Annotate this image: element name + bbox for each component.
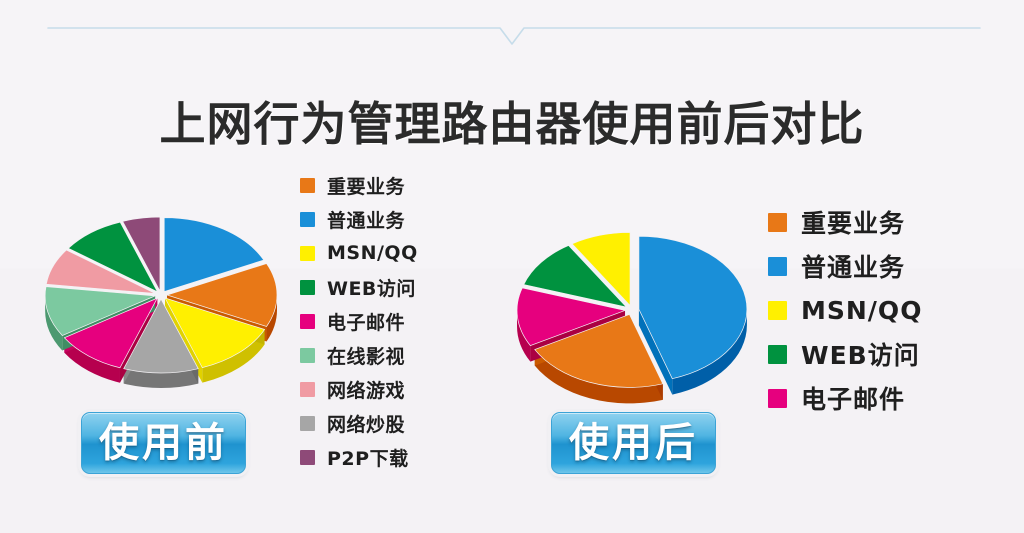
legend-color-swatch (300, 348, 315, 363)
legend-after-item: 重要业务 (768, 200, 922, 244)
legend-color-swatch (300, 450, 315, 465)
slide-canvas: 上网行为管理路由器使用前后对比 重要业务普通业务MSN/QQWEB访问电子邮件在… (0, 0, 1024, 533)
legend-before-item: 在线影视 (300, 338, 418, 372)
legend-color-swatch (768, 389, 787, 408)
top-divider (0, 0, 1024, 60)
legend-color-swatch (300, 314, 315, 329)
legend-before-item: 电子邮件 (300, 304, 418, 338)
legend-before: 重要业务普通业务MSN/QQWEB访问电子邮件在线影视网络游戏网络炒股P2P下载 (300, 168, 418, 474)
legend-item-label: 在线影视 (327, 342, 405, 369)
legend-color-swatch (300, 382, 315, 397)
legend-before-item: P2P下载 (300, 440, 418, 474)
legend-after: 重要业务普通业务MSN/QQWEB访问电子邮件 (768, 200, 922, 420)
legend-item-label: WEB访问 (801, 336, 920, 372)
legend-item-label: 普通业务 (327, 206, 405, 233)
legend-color-swatch (768, 301, 787, 320)
legend-item-label: MSN/QQ (801, 296, 922, 325)
legend-after-item: 普通业务 (768, 244, 922, 288)
legend-item-label: 电子邮件 (801, 380, 905, 416)
legend-before-item: 网络游戏 (300, 372, 418, 406)
legend-color-swatch (768, 345, 787, 364)
legend-item-label: 电子邮件 (327, 308, 405, 335)
legend-item-label: 普通业务 (801, 248, 905, 284)
legend-after-item: MSN/QQ (768, 288, 922, 332)
legend-after-item: WEB访问 (768, 332, 922, 376)
label-before-use[interactable]: 使用前 (81, 412, 246, 474)
legend-before-item: 普通业务 (300, 202, 418, 236)
legend-color-swatch (300, 416, 315, 431)
pie-chart-before (20, 190, 310, 405)
legend-color-swatch (300, 246, 315, 261)
divider-chevron-icon (0, 0, 1024, 60)
legend-before-item: WEB访问 (300, 270, 418, 304)
legend-color-swatch (768, 213, 787, 232)
legend-color-swatch (300, 212, 315, 227)
legend-item-label: 重要业务 (801, 204, 905, 240)
legend-before-item: 网络炒股 (300, 406, 418, 440)
legend-item-label: WEB访问 (327, 274, 416, 301)
label-after-use-text: 使用后 (569, 423, 698, 463)
legend-item-label: 网络炒股 (327, 410, 405, 437)
label-before-use-text: 使用前 (99, 423, 228, 463)
legend-item-label: MSN/QQ (327, 242, 418, 264)
legend-color-swatch (300, 280, 315, 295)
page-title: 上网行为管理路由器使用前后对比 (0, 88, 1024, 154)
pie-chart-after (495, 210, 775, 415)
legend-after-item: 电子邮件 (768, 376, 922, 420)
legend-before-item: 重要业务 (300, 168, 418, 202)
label-after-use[interactable]: 使用后 (551, 412, 716, 474)
legend-color-swatch (300, 178, 315, 193)
legend-item-label: 网络游戏 (327, 376, 405, 403)
legend-item-label: 重要业务 (327, 172, 405, 199)
legend-item-label: P2P下载 (327, 444, 409, 471)
legend-before-item: MSN/QQ (300, 236, 418, 270)
legend-color-swatch (768, 257, 787, 276)
